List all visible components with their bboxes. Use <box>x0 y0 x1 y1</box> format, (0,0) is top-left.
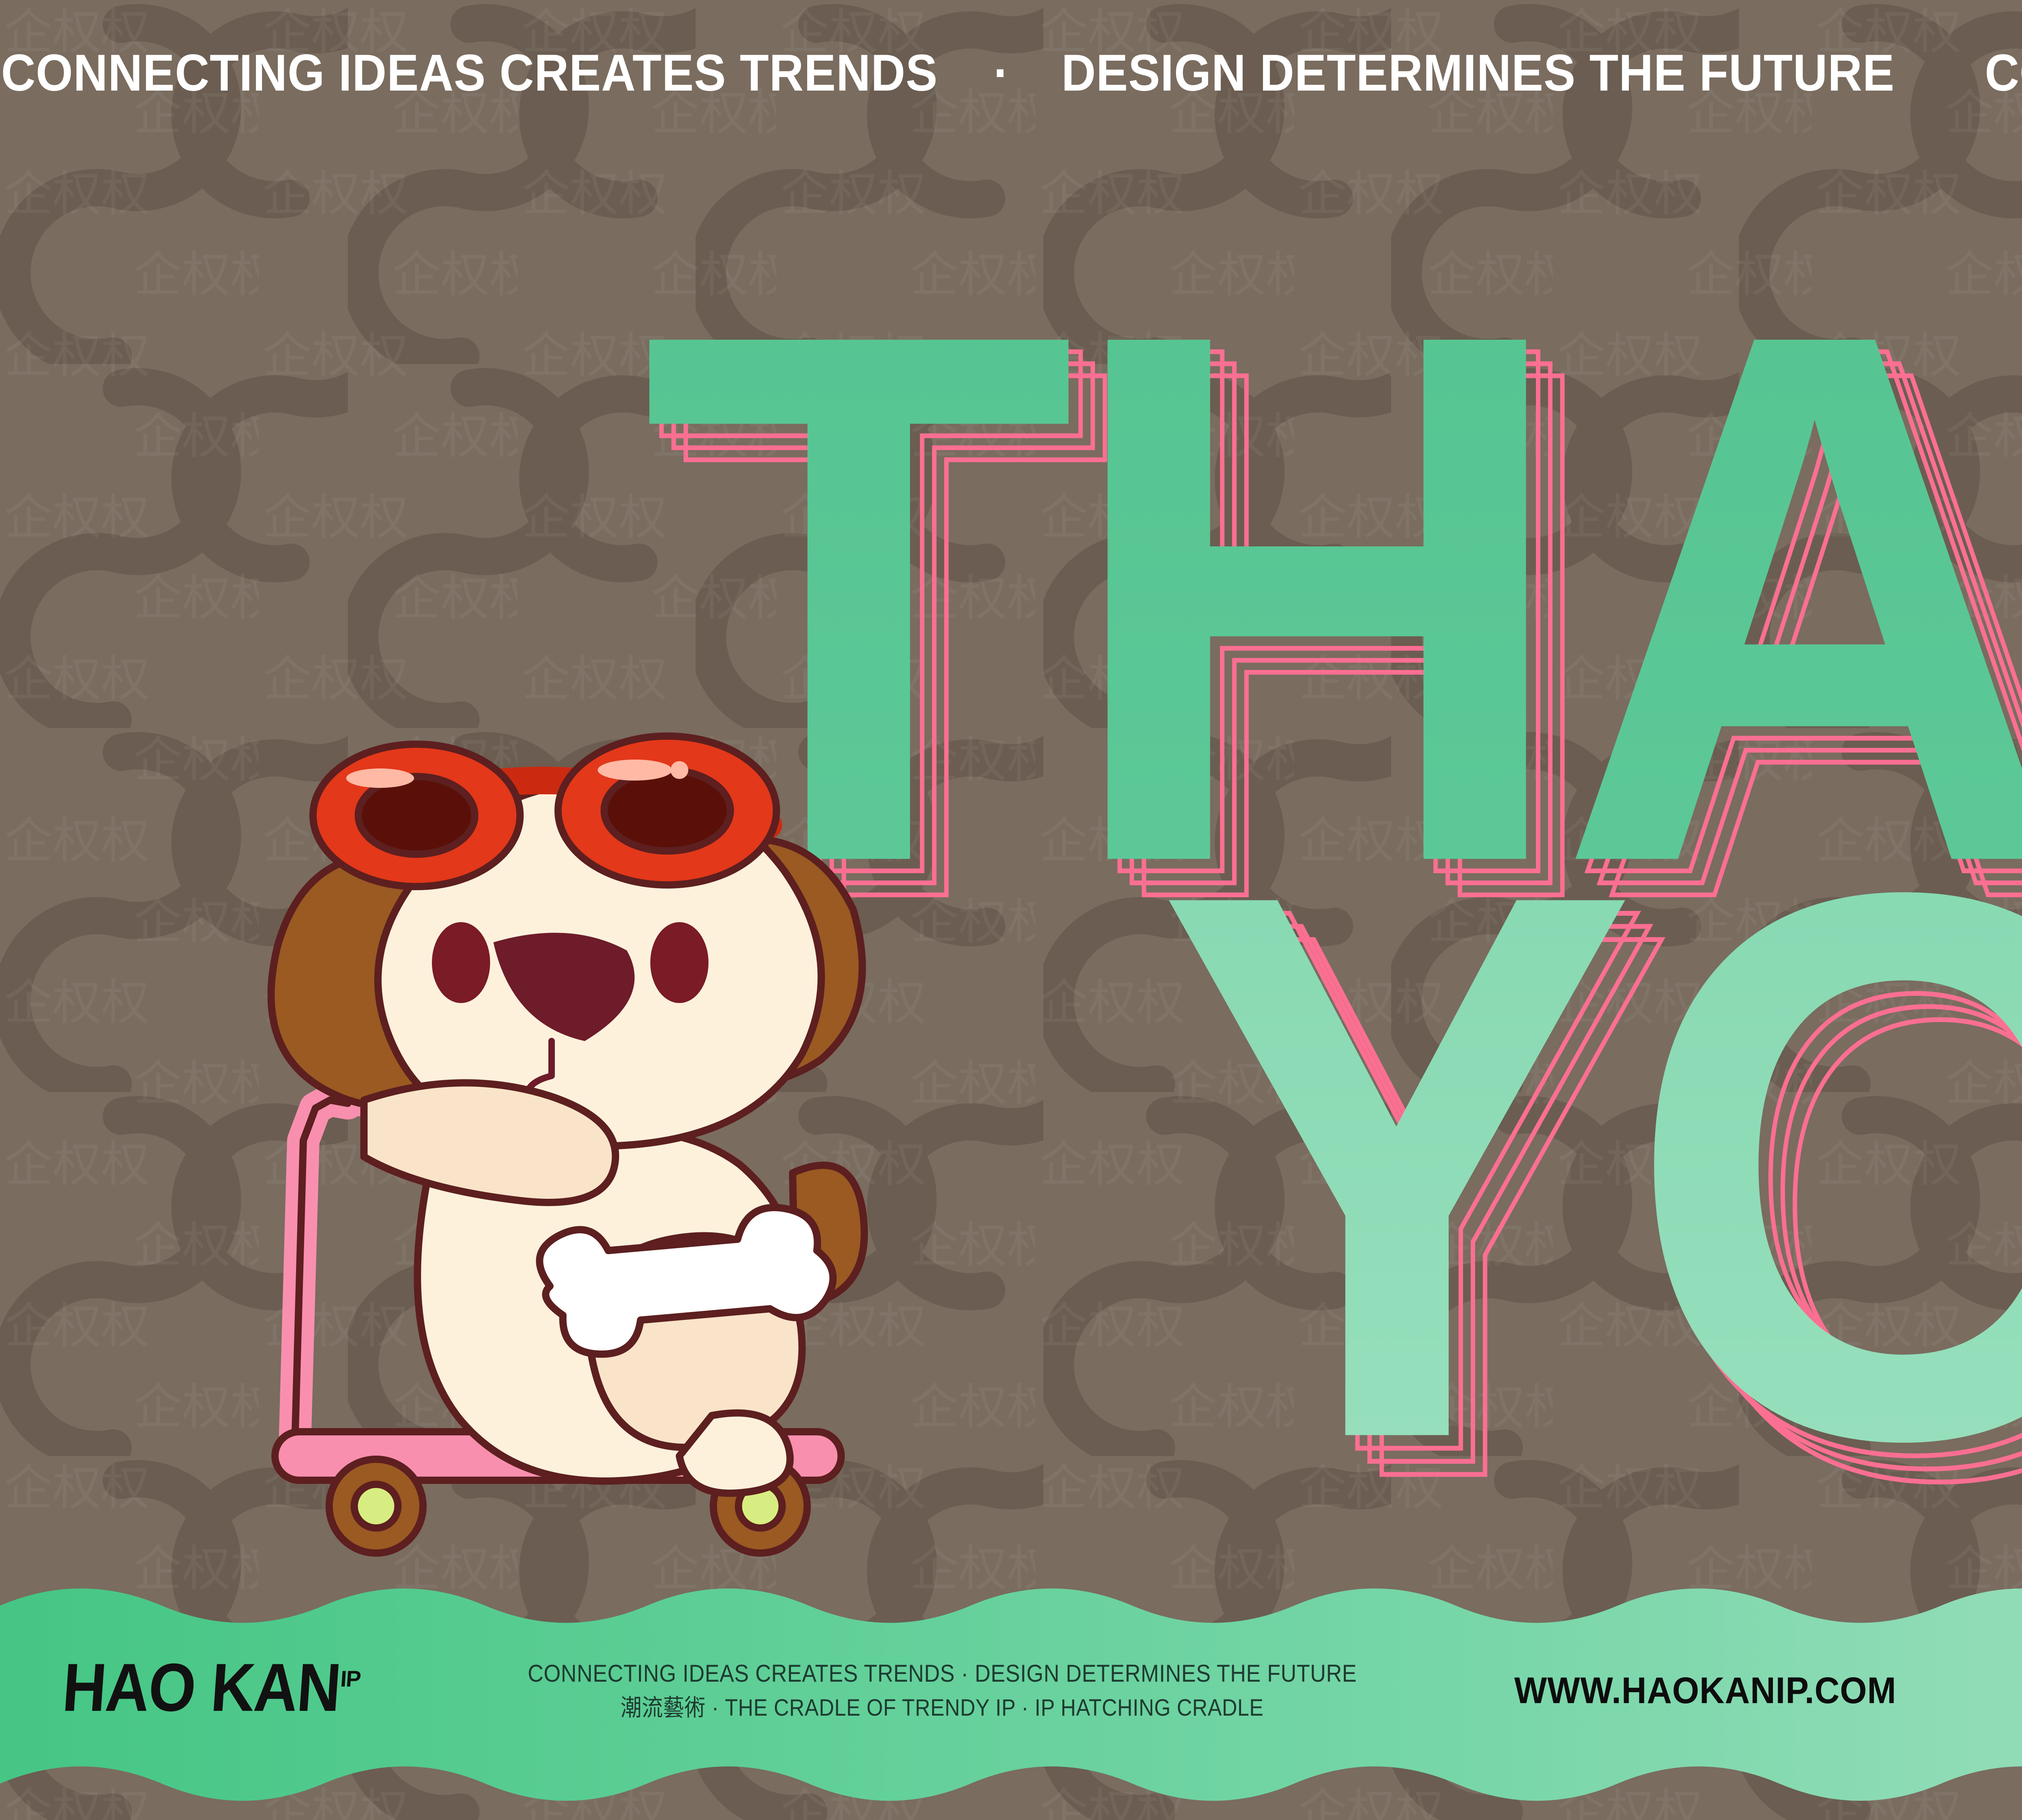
header-line-2: DESIGN DETERMINES THE FUTURE <box>1061 43 1895 103</box>
footer-logo-left-word: HAO KAN <box>61 1657 343 1718</box>
header-separator: · <box>980 43 1023 103</box>
footer-tagline-line-1: CONNECTING IDEAS CREATES TRENDS · DESIGN… <box>528 1656 1357 1691</box>
poster-canvas: 企权权 企权权 CONNECTING IDEAS CREATES TRENDS … <box>0 0 2022 1820</box>
header-tagline-bar: CONNECTING IDEAS CREATES TRENDS · DESIGN… <box>0 0 2022 121</box>
footer-logo-left-sup: IP <box>340 1668 361 1690</box>
footer-website-url[interactable]: WWW.HAOKANIP.COM <box>1514 1670 1896 1712</box>
footer-services-block: IP DREAMWORKS · IMAGE DESIGN DISPLAY MAS… <box>2000 1655 2022 1726</box>
footer-bar: HAO KAN IP CONNECTING IDEAS CREATES TREN… <box>0 1569 2022 1820</box>
mascot-scooter-puppy <box>226 720 954 1553</box>
footer-logo-left[interactable]: HAO KAN IP <box>61 1663 360 1718</box>
footer-tagline-line-2: 潮流藝術 · THE CRADLE OF TRENDY IP · IP HATC… <box>621 1691 1264 1725</box>
header-line-1: CONNECTING IDEAS CREATES TRENDS <box>1 43 937 103</box>
footer-tagline-block: CONNECTING IDEAS CREATES TRENDS · DESIGN… <box>482 1656 1403 1725</box>
footer-website-block[interactable]: WWW.HAOKANIP.COM <box>1500 1670 1911 1712</box>
hero-word-you: YOU <box>1157 731 2022 1600</box>
header-line-3: CONNECT CREATIVITY AND EMPOWER THE FUTUR… <box>1984 43 2022 103</box>
